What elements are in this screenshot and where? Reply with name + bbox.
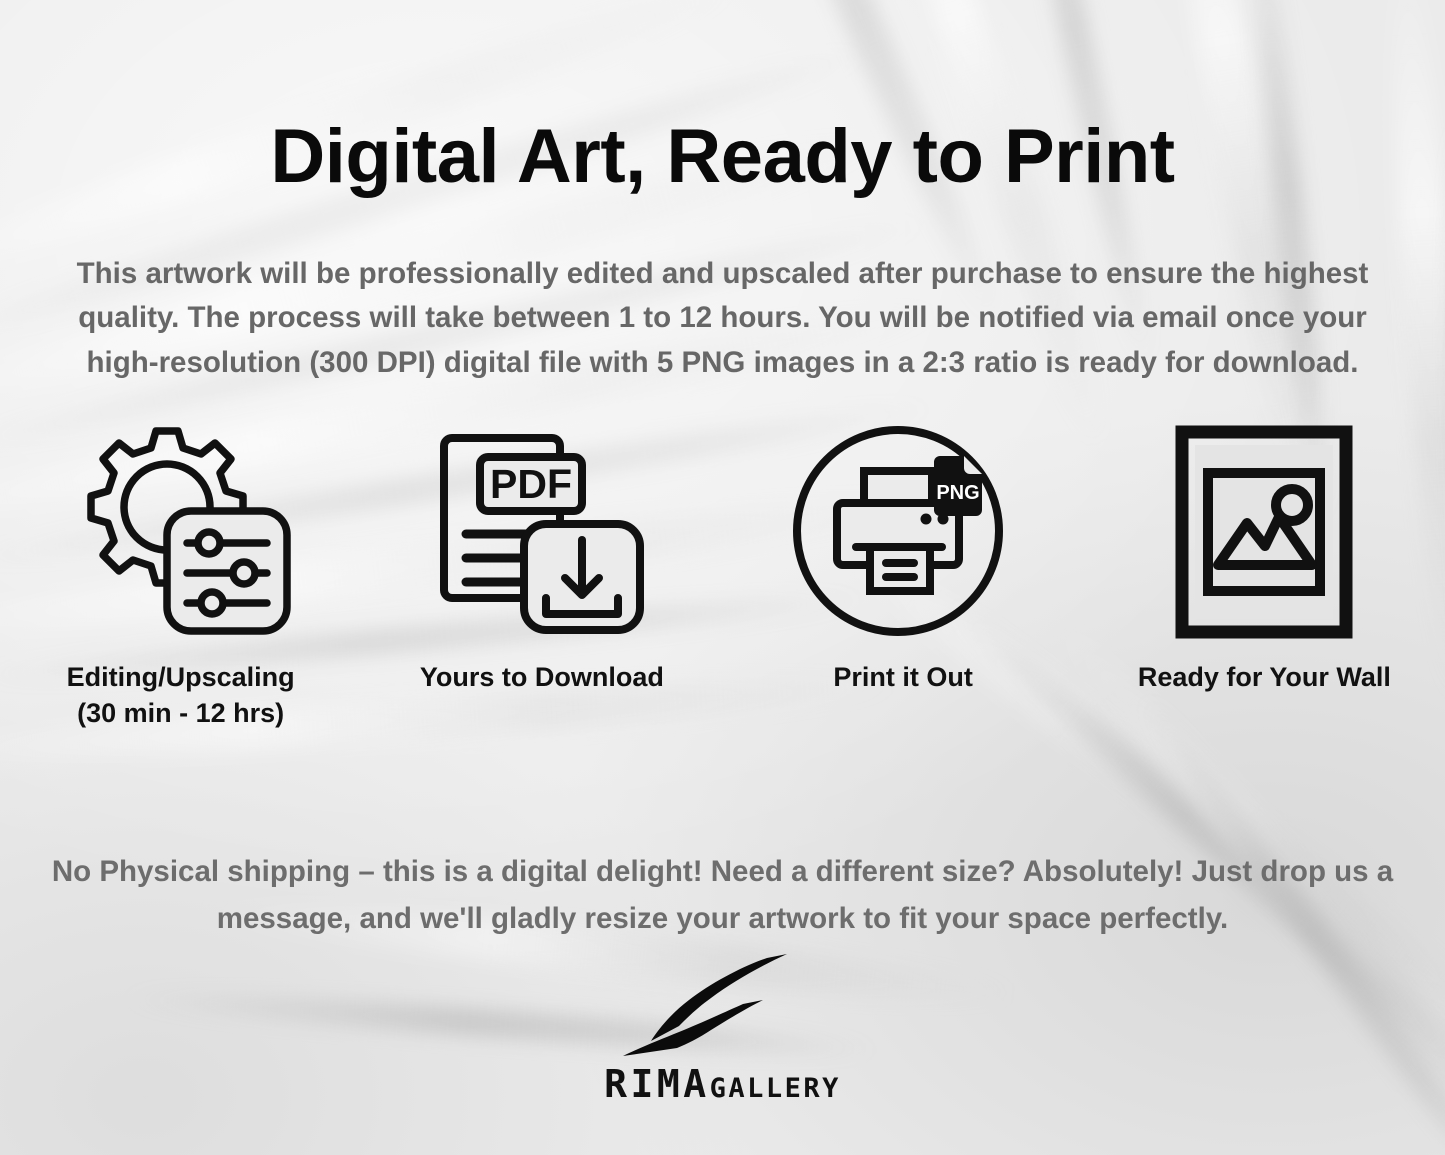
feature-label: Yours to Download: [420, 660, 664, 696]
feature-label: Ready for Your Wall: [1138, 660, 1391, 696]
png-badge-text: PNG: [936, 482, 979, 504]
brand-logo: RIMA GALLERY: [0, 948, 1445, 1106]
gear-sliders-icon: [66, 412, 296, 652]
promo-graphic: Digital Art, Ready to Print This artwork…: [0, 0, 1445, 1155]
pdf-badge-text: PDF: [490, 461, 572, 507]
feature-item-print: PNG Print it Out: [738, 412, 1068, 696]
outro-paragraph: No Physical shipping – this is a digital…: [45, 848, 1400, 944]
feature-label: Editing/Upscaling (30 min - 12 hrs): [67, 660, 295, 731]
framed-picture-icon: [1175, 412, 1353, 652]
feature-item-editing-upscaling: Editing/Upscaling (30 min - 12 hrs): [16, 412, 346, 731]
intro-paragraph: This artwork will be professionally edit…: [50, 252, 1395, 386]
page-title: Digital Art, Ready to Print: [0, 119, 1445, 195]
logo-wordmark: RIMA GALLERY: [604, 1062, 841, 1106]
logo-name-secondary: GALLERY: [710, 1073, 841, 1104]
rima-swoosh-icon: [615, 948, 830, 1058]
feature-item-wall-ready: Ready for Your Wall: [1099, 412, 1429, 696]
logo-name-primary: RIMA: [604, 1062, 710, 1106]
printer-circle-icon: PNG: [792, 412, 1014, 652]
pdf-download-icon: PDF: [436, 412, 648, 652]
feature-item-download: PDF Yours to Download: [377, 412, 707, 696]
feature-label: Print it Out: [833, 660, 972, 696]
feature-row: Editing/Upscaling (30 min - 12 hrs) PDF: [0, 412, 1445, 731]
